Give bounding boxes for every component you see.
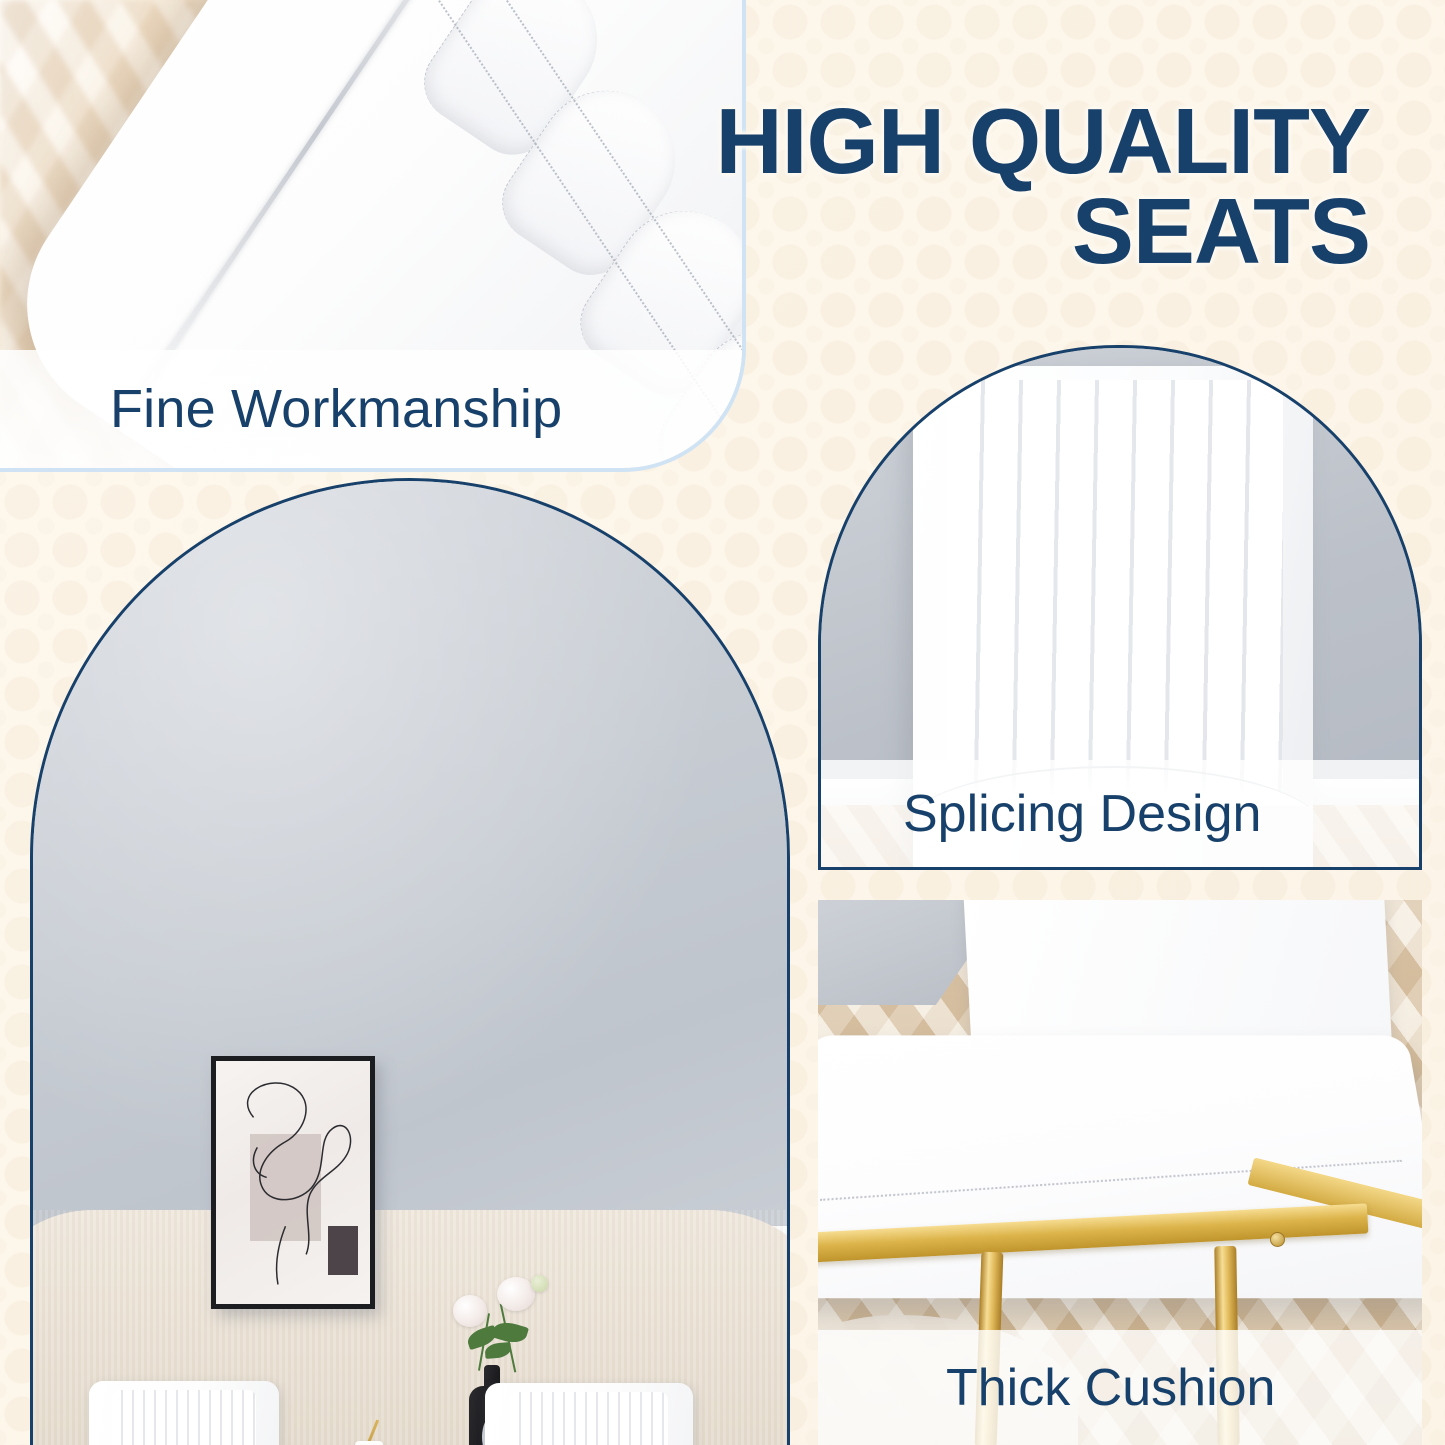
- panel-fine-workmanship: Fine Workmanship: [0, 0, 742, 468]
- caption-fine-workmanship: Fine Workmanship: [0, 378, 562, 440]
- chair-channel-tufting: [510, 1392, 668, 1445]
- coffee-cup: [355, 1441, 383, 1445]
- caption-band-cushion: Thick Cushion: [818, 1330, 1422, 1445]
- chair-channel-tufting: [112, 1390, 256, 1445]
- caption-splicing-design: Splicing Design: [821, 784, 1261, 844]
- frame-screw: [1270, 1232, 1285, 1247]
- caption-band-splicing: Splicing Design: [818, 760, 1422, 870]
- headline-line-2: SEATS: [640, 186, 1370, 276]
- room-wall: [33, 481, 787, 1241]
- framed-wall-art: [211, 1056, 375, 1309]
- vertical-channel-tufting: [947, 380, 1283, 800]
- art-line-drawing: [216, 1061, 370, 1299]
- headline-line-1: HIGH QUALITY: [640, 96, 1370, 186]
- chair-backrest: [485, 1383, 693, 1445]
- caption-band-workmanship: Fine Workmanship: [0, 350, 742, 468]
- panel-room-scene: [30, 478, 790, 1445]
- chair-backrest: [89, 1381, 279, 1445]
- dining-chair-left: [89, 1381, 279, 1445]
- dining-chair-right: [485, 1383, 693, 1445]
- caption-thick-cushion: Thick Cushion: [818, 1358, 1275, 1418]
- page-title: HIGH QUALITY SEATS: [640, 96, 1370, 276]
- thick-seat-cushion: [818, 1035, 1422, 1298]
